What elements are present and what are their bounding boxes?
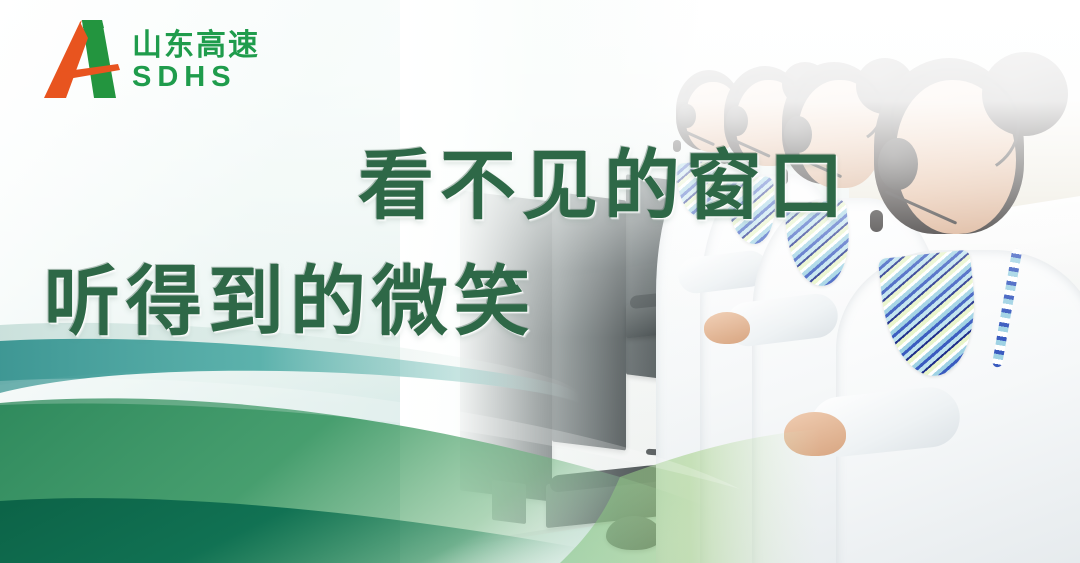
promotional-banner: 山东高速 SDHS 看不见的窗口 听得到的微笑 — [0, 0, 1080, 563]
logo-wordmark: 山东高速 SDHS — [132, 26, 260, 92]
logo-english-name: SDHS — [132, 63, 260, 92]
logo-chinese-name: 山东高速 — [132, 30, 260, 62]
sdhs-logo[interactable]: 山东高速 SDHS — [44, 16, 260, 102]
sdhs-a-monogram-icon — [44, 16, 122, 102]
decorative-green-waves — [0, 263, 820, 563]
